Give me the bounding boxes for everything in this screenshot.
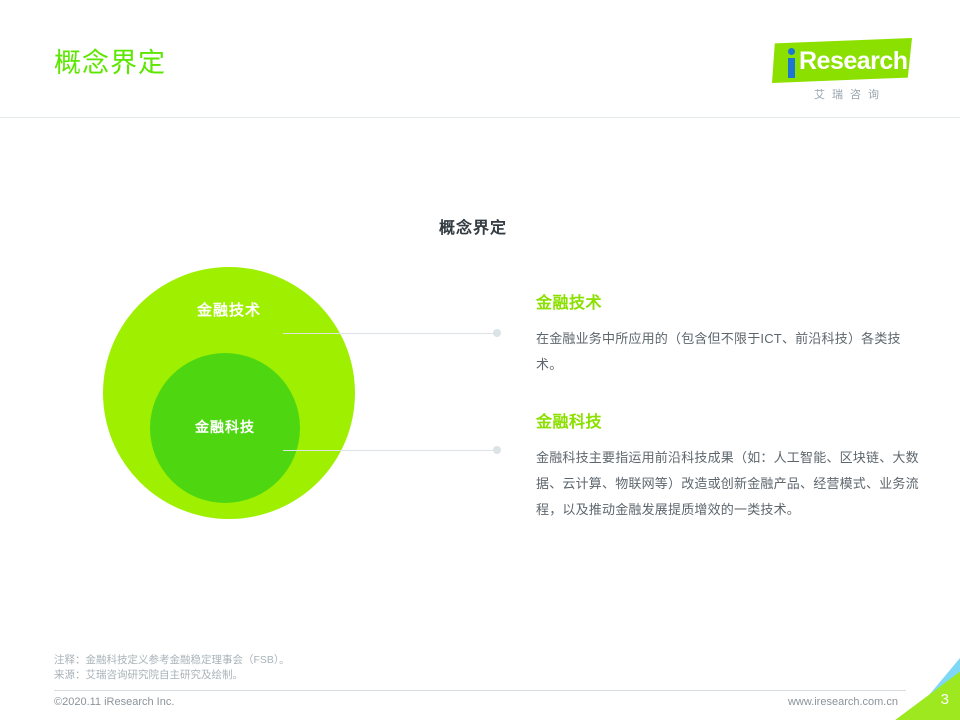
logo-i-dot-icon <box>788 48 795 55</box>
definition-block-fintech: 金融科技 金融科技主要指运用前沿科技成果（如：人工智能、区块链、大数据、云计算、… <box>536 415 926 523</box>
footnote-source: 来源：艾瑞咨询研究院自主研究及绘制。 <box>54 668 574 683</box>
connector-dot-icon-fintech <box>493 446 501 454</box>
page-number: 3 <box>941 692 949 707</box>
content-heading: 概念界定 <box>439 221 507 237</box>
connector-dot-icon-technology <box>493 329 501 337</box>
corner-decoration: 3 <box>888 658 960 720</box>
copyright-text: ©2020.11 iResearch Inc. <box>54 697 174 708</box>
definition-body-technology: 在金融业务中所应用的（包含但不限于ICT、前沿科技）各类技术。 <box>536 326 926 378</box>
footnotes: 注释：金融科技定义参考金融稳定理事会（FSB）。 来源：艾瑞咨询研究院自主研究及… <box>54 653 574 683</box>
logo-wordmark-chinese: 艾瑞咨询 <box>788 90 912 101</box>
definition-title-fintech: 金融科技 <box>536 415 926 431</box>
iresearch-logo: Research 艾瑞咨询 <box>772 38 912 110</box>
slide-canvas: 概念界定 Research 艾瑞咨询 概念界定 金融技术 金融科技 金融技术 在… <box>0 0 960 720</box>
page-title: 概念界定 <box>54 50 166 77</box>
definition-title-technology: 金融技术 <box>536 296 926 312</box>
footnote-annotation: 注释：金融科技定义参考金融稳定理事会（FSB）。 <box>54 653 574 668</box>
venn-inner-label: 金融科技 <box>150 420 300 434</box>
logo-wordmark: Research <box>799 49 908 74</box>
definition-block-technology: 金融技术 在金融业务中所应用的（包含但不限于ICT、前沿科技）各类技术。 <box>536 296 926 378</box>
venn-outer-label: 金融技术 <box>103 303 355 318</box>
website-url[interactable]: www.iresearch.com.cn <box>788 697 898 708</box>
definition-body-fintech: 金融科技主要指运用前沿科技成果（如：人工智能、区块链、大数据、云计算、物联网等）… <box>536 445 926 523</box>
slide-header: 概念界定 Research 艾瑞咨询 <box>0 0 960 118</box>
logo-i-stem-icon <box>788 58 795 78</box>
header-divider <box>0 117 960 118</box>
connector-line-technology <box>283 333 497 334</box>
nested-venn-diagram: 金融技术 金融科技 <box>90 255 390 545</box>
footer-divider <box>54 690 906 691</box>
connector-line-fintech <box>283 450 497 451</box>
corner-triangle-green-icon <box>888 658 960 720</box>
